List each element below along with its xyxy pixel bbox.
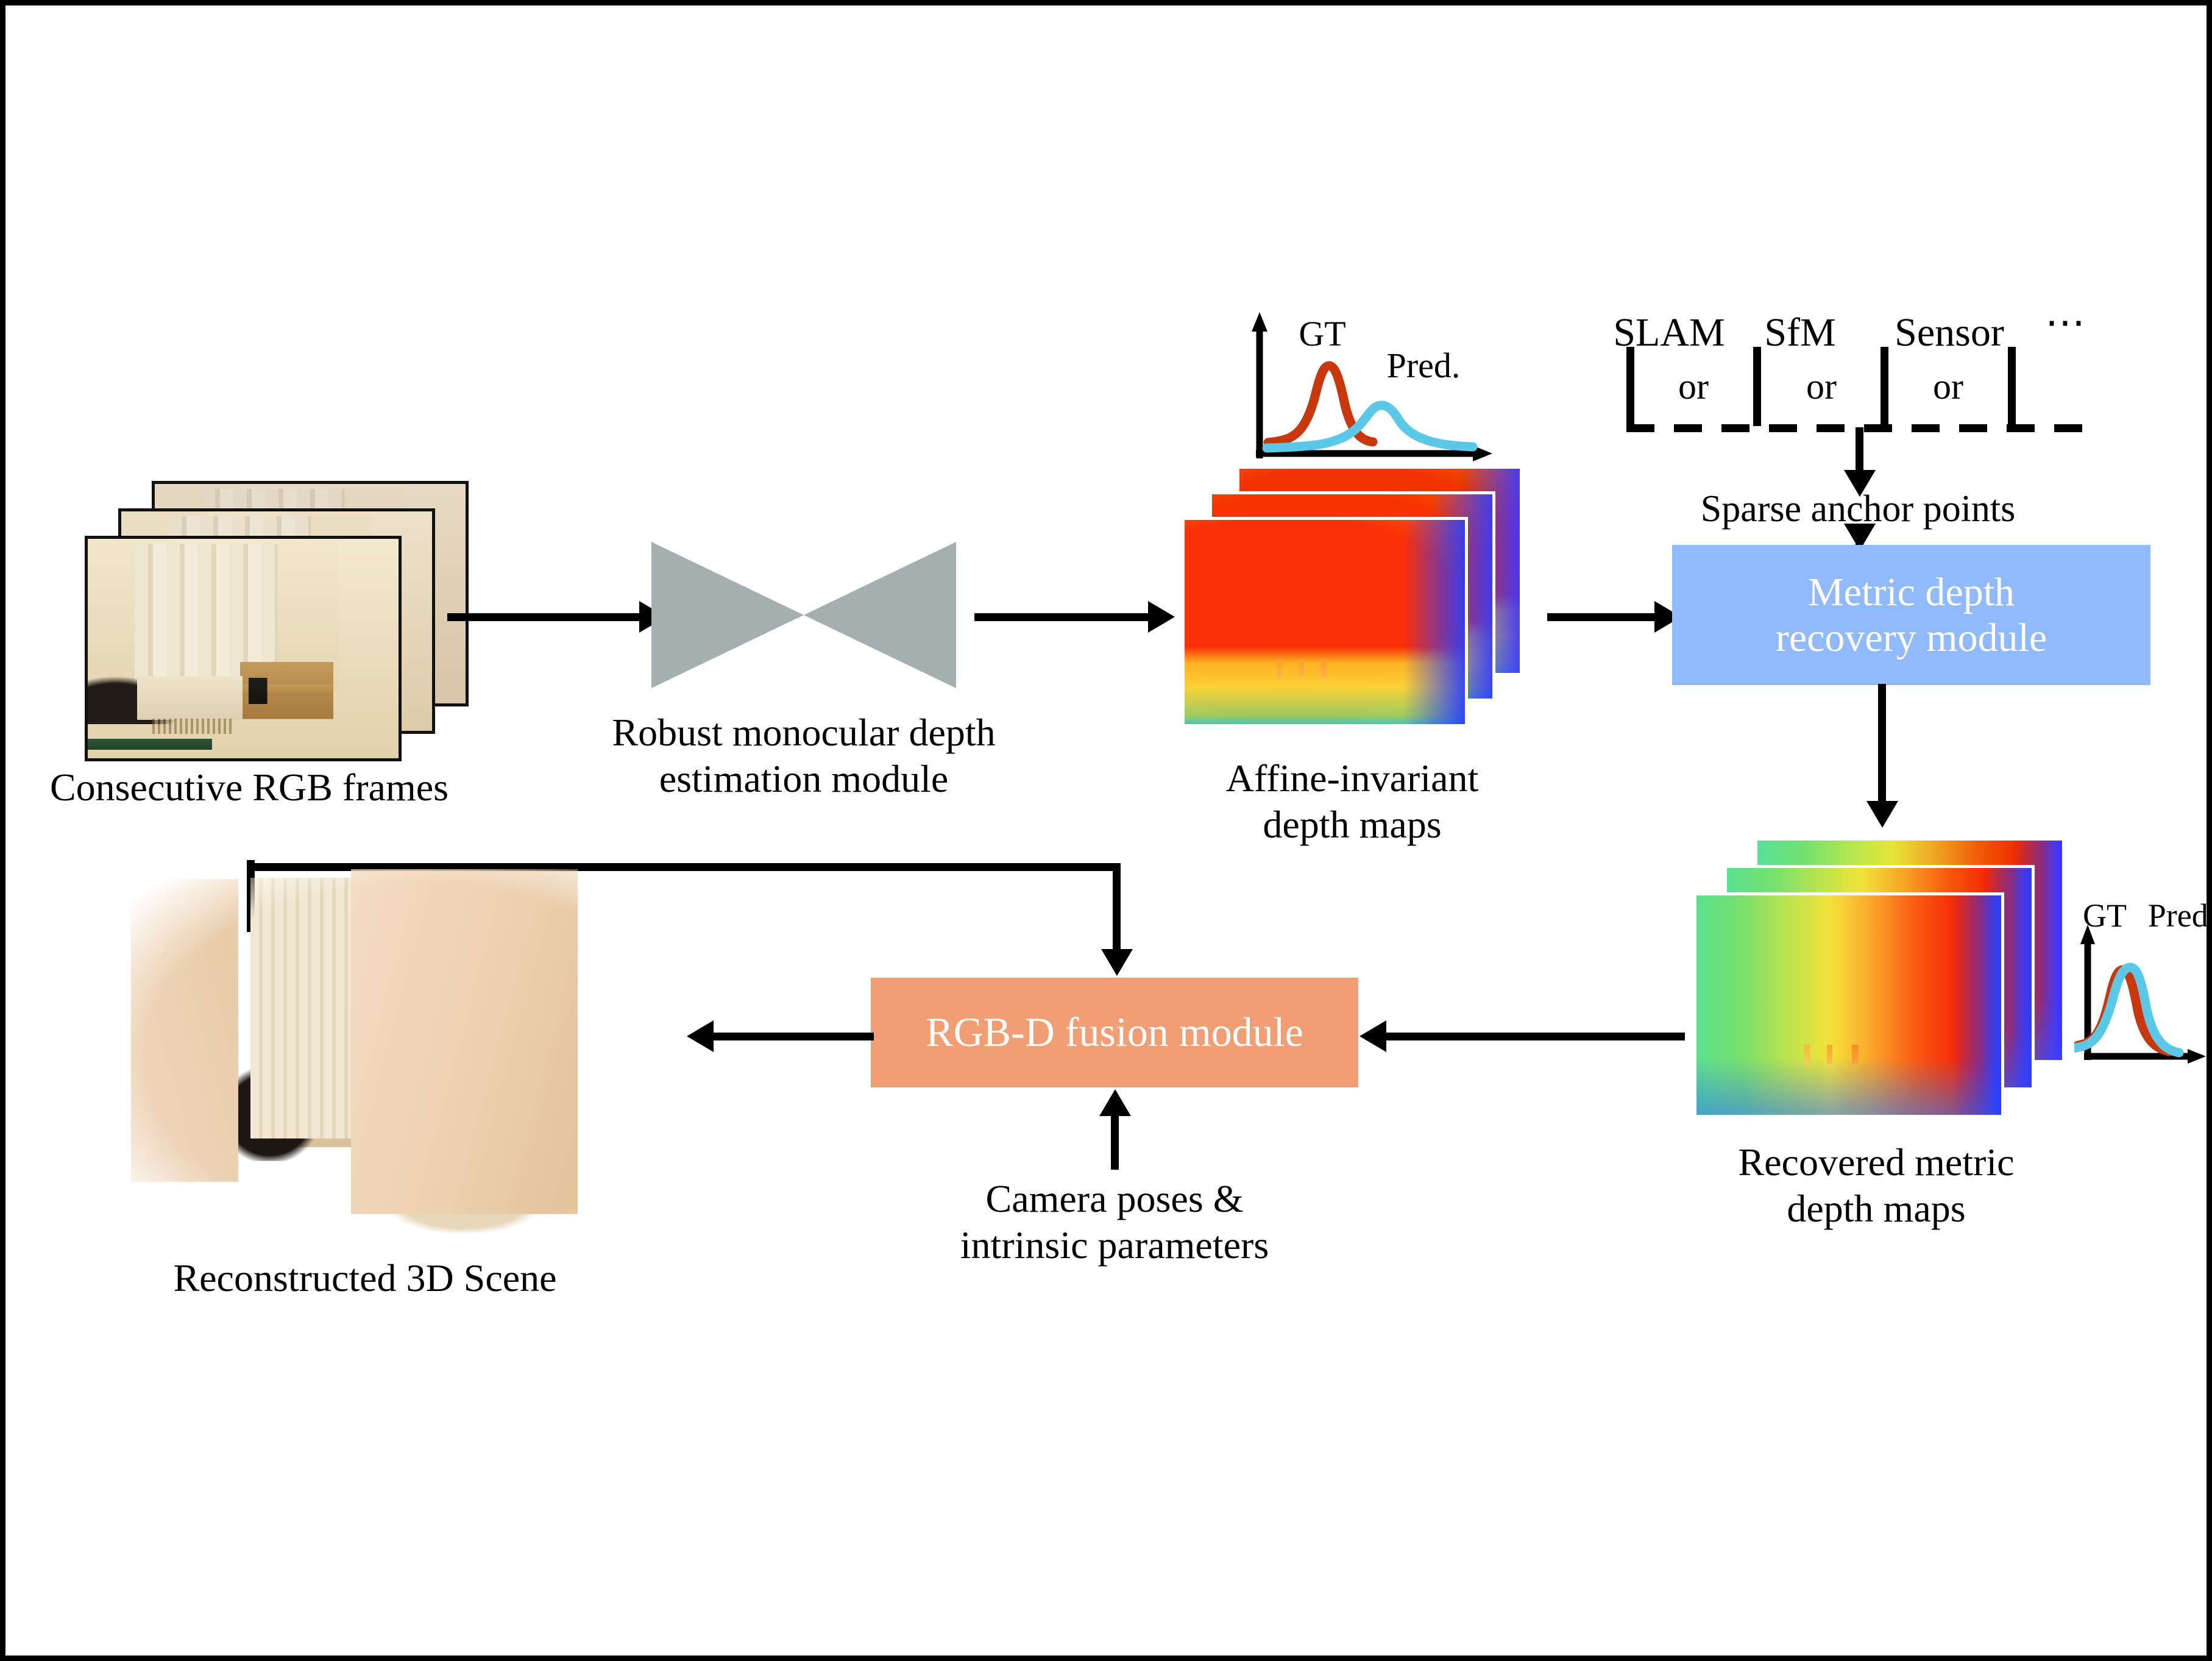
bracket-tick-1 bbox=[1753, 347, 1761, 426]
bracket-tick-2 bbox=[1881, 347, 1888, 426]
arrow-fusion-to-reconstruction-line bbox=[712, 1033, 874, 1040]
rgb-frame-stack bbox=[85, 481, 475, 761]
arrow-metric-maps-to-fusion-head bbox=[1359, 1020, 1386, 1052]
arrow-bracket-to-anchor-line bbox=[1856, 427, 1863, 475]
rgbd-fusion-module[interactable]: RGB-D fusion module bbox=[871, 978, 1358, 1087]
affine-distribution-plot: GT Pred. bbox=[1242, 307, 1498, 466]
reconstructed-scene-caption: Reconstructed 3D Scene bbox=[97, 1255, 633, 1301]
reconstructed-3d-scene-image bbox=[121, 865, 718, 1286]
arrow-depth-to-affine-head bbox=[1148, 601, 1175, 633]
anchor-source-sfm: SfM bbox=[1730, 309, 1870, 357]
affine-plot-legend-gt: GT bbox=[1289, 313, 1356, 355]
arrow-affine-to-metric-line bbox=[1547, 613, 1657, 621]
affine-plot-legend-pred: Pred. bbox=[1372, 345, 1475, 386]
metric-depth-map-stack bbox=[1693, 838, 2071, 1124]
metric-plot-legend-gt: GT bbox=[2071, 897, 2138, 936]
arrow-metric-maps-to-fusion-line bbox=[1386, 1033, 1685, 1040]
arrow-rgb-to-depth-line bbox=[447, 613, 642, 621]
affine-depth-map-stack bbox=[1182, 466, 1529, 740]
camera-parameters-label: Camera poses & intrinsic parameters bbox=[889, 1176, 1340, 1268]
arrow-rgb-feed-vertical-right bbox=[1113, 863, 1121, 953]
figure-canvas: Consecutive RGB frames Robust monocular … bbox=[0, 0, 2212, 1661]
anchor-source-slam: SLAM bbox=[1584, 309, 1754, 357]
depth-estimation-module-shape bbox=[651, 542, 956, 688]
rgb-frame-image bbox=[88, 539, 399, 758]
arrow-metric-module-to-maps-head bbox=[1866, 801, 1898, 828]
metric-distribution-plot: GT Pred. bbox=[2074, 914, 2212, 1072]
arrow-depth-to-affine-line bbox=[974, 613, 1151, 621]
anchor-source-sensor: Sensor bbox=[1858, 309, 2041, 357]
rgb-frame-front bbox=[85, 536, 402, 761]
metric-plot-legend-pred: Pred. bbox=[2130, 897, 2212, 936]
metric-depth-recovery-module[interactable]: Metric depth recovery module bbox=[1672, 545, 2150, 685]
affine-depth-map-front bbox=[1182, 517, 1468, 727]
metric-depth-map-image bbox=[1696, 895, 2001, 1115]
bracket-tick-left bbox=[1626, 347, 1634, 426]
anchor-separator-or-3: or bbox=[1905, 365, 1991, 408]
anchor-separator-or-1: or bbox=[1651, 365, 1736, 408]
metric-depth-map-front bbox=[1693, 892, 2004, 1118]
arrow-camera-params-to-fusion-line bbox=[1111, 1115, 1119, 1170]
anchor-source-ellipsis: ⋯ bbox=[2019, 299, 2111, 347]
anchor-separator-or-2: or bbox=[1779, 365, 1864, 408]
affine-depth-map-image bbox=[1185, 520, 1465, 724]
depth-estimation-module-label: Robust monocular depth estimation module bbox=[542, 710, 1066, 802]
metric-depth-maps-caption: Recovered metric depth maps bbox=[1663, 1139, 2090, 1231]
arrow-rgb-feed-head bbox=[1101, 949, 1133, 976]
rgb-frames-caption: Consecutive RGB frames bbox=[12, 764, 487, 811]
arrow-metric-module-to-maps-line bbox=[1878, 684, 1886, 809]
affine-depth-maps-caption: Affine-invariant depth maps bbox=[1151, 755, 1553, 847]
arrow-camera-params-to-fusion-head bbox=[1099, 1089, 1131, 1116]
bracket-tick-right bbox=[2008, 347, 2016, 426]
